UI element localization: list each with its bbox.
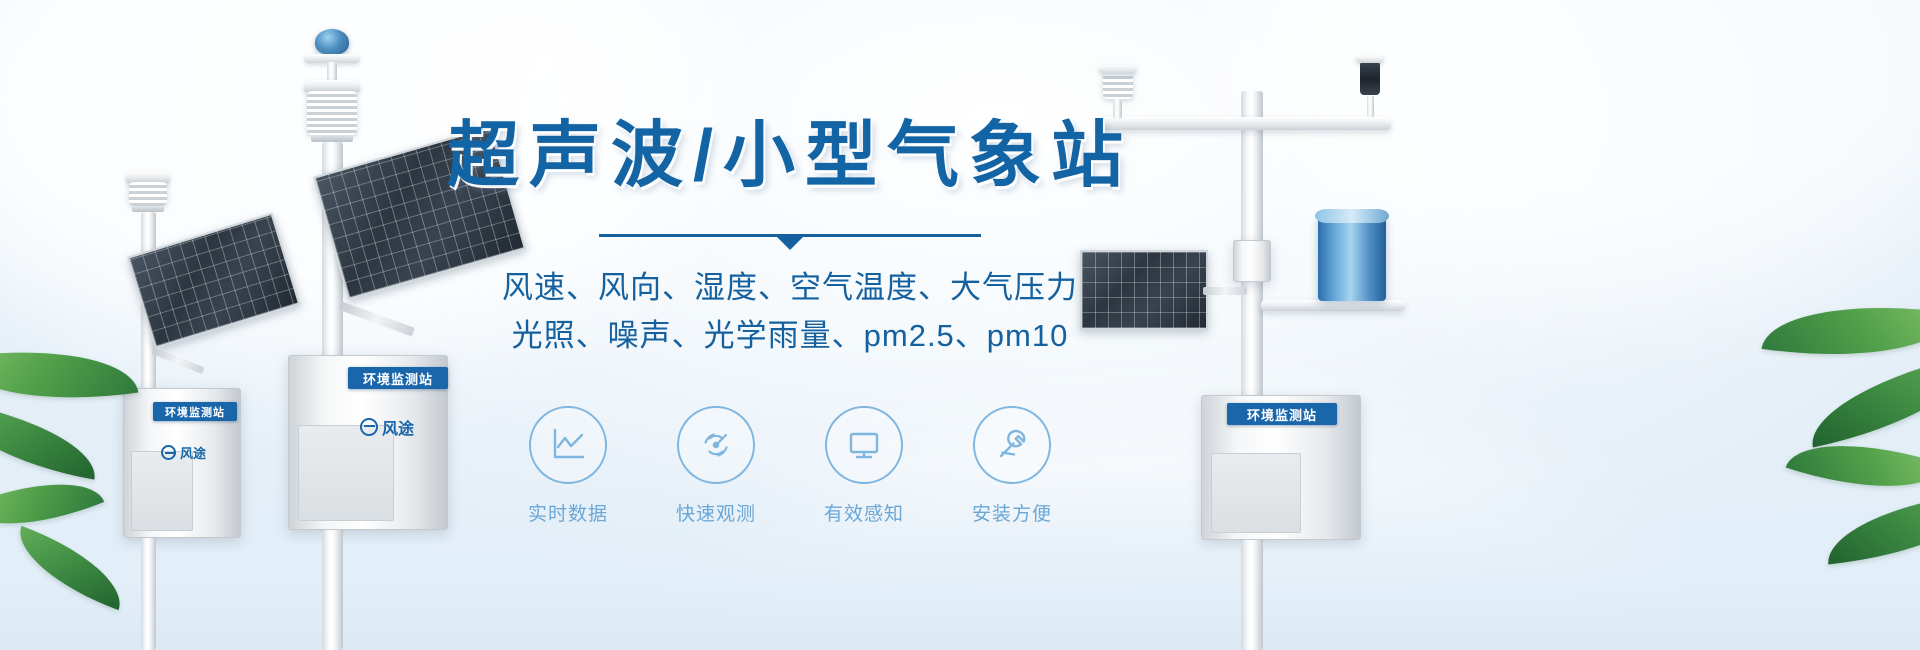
banner-content: 超声波/小型气象站 风速、风向、湿度、空气温度、大气压力 光照、噪声、光学雨量、… [440,0,1140,650]
panel-strut-center [338,301,414,336]
brand-left-text: 风途 [180,443,206,462]
feature-item-effective-sensing[interactable]: 有效感知 [810,406,918,526]
brand-left: 风途 [161,443,206,462]
feature-item-fast-observation[interactable]: 快速观测 [662,406,770,526]
disc-stack-left [129,182,167,206]
mast-lower-right [1241,540,1263,650]
leaf-right-2 [1801,354,1920,447]
feature-item-easy-installation[interactable]: 安装方便 [958,406,1066,526]
brand-glyph-icon [360,418,378,436]
panel-strut-right [1203,287,1247,295]
wrench-icon [990,423,1034,467]
feature-circle [529,406,607,484]
crossarm-right [1099,117,1391,130]
page-title: 超声波/小型气象站 [447,118,1133,196]
subtitle-line-2: 光照、噪声、光学雨量、pm2.5、pm10 [512,312,1069,360]
cabinet-door-right [1211,453,1301,533]
feature-list: 实时数据 快速观测 [514,406,1066,526]
weather-station-left: 环境监测站 风途 [95,165,305,650]
black-sensor-right [1360,61,1380,95]
nameplate-left: 环境监测站 [153,402,237,421]
rain-gauge-right [1318,215,1386,301]
instrument-shelf-right [1261,300,1405,311]
leaf-right-4 [1823,492,1920,565]
leaf-right-1 [1762,287,1920,374]
feature-label: 快速观测 [676,499,756,526]
divider-caret-icon [777,237,803,250]
light-sensor-dome-center [315,29,349,55]
brand-center-text: 风途 [382,415,414,439]
disc-stack-center [307,91,357,135]
panel-strut-left [152,347,205,374]
sensor-neck-center [327,62,337,82]
mast-lower-left [141,538,156,650]
cabinet-door-center [298,425,394,521]
shield-base-center [311,135,353,142]
mast-lower-center [322,530,343,650]
black-sensor-stem-right [1367,95,1374,118]
radar-signal-icon [694,423,738,467]
black-sensor-cap-right [1356,55,1384,63]
nameplate-right: 环境监测站 [1227,403,1337,425]
junction-box-right [1233,240,1271,282]
leaf-left-2 [0,402,103,479]
line-chart-icon [546,423,590,467]
feature-label: 安装方便 [972,499,1052,526]
cabinet-door-left [131,451,193,531]
feature-label: 实时数据 [528,499,608,526]
feature-circle [677,406,755,484]
rain-gauge-rim-right [1315,209,1389,223]
brand-glyph-icon [161,445,176,460]
title-divider [599,230,981,252]
feature-circle [825,406,903,484]
subtitle-line-1: 风速、风向、湿度、空气温度、大气压力 [502,264,1078,312]
product-banner: 环境监测站 风途 环境监测站 风途 [0,0,1920,650]
brand-center: 风途 [360,415,414,439]
feature-circle [973,406,1051,484]
feature-item-realtime-data[interactable]: 实时数据 [514,406,622,526]
nameplate-center: 环境监测站 [348,367,448,389]
feature-label: 有效感知 [824,499,904,526]
monitor-screen-icon [842,423,886,467]
